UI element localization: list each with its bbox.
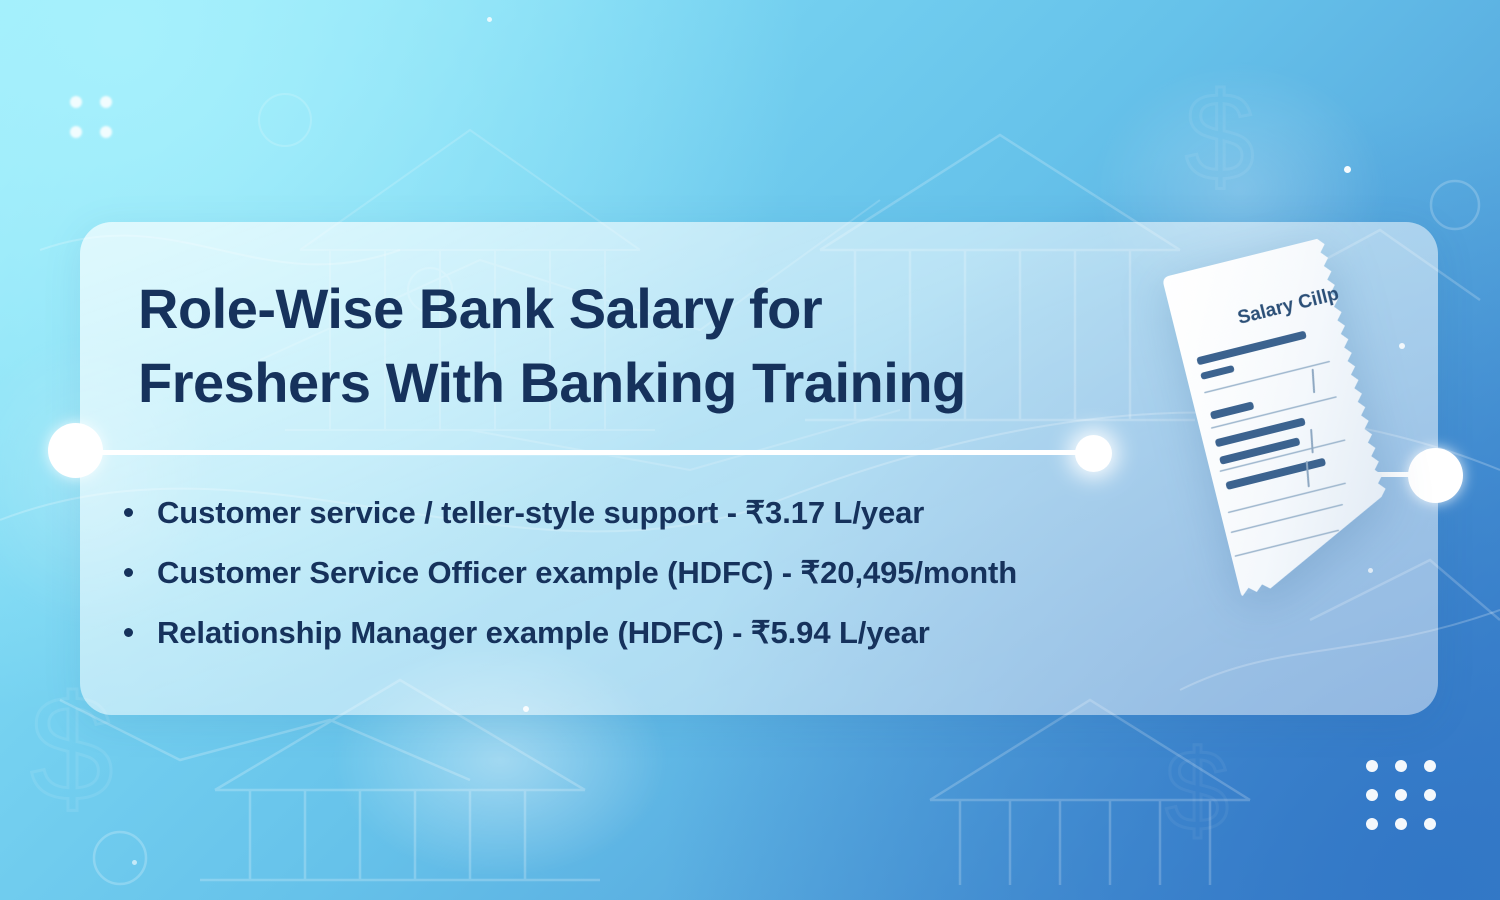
bullet-list: Customer service / teller-style support … (120, 495, 1210, 651)
svg-text:$: $ (1165, 727, 1229, 855)
decor-dot (70, 126, 82, 138)
node-left (48, 423, 103, 478)
list-item-label: Relationship Manager example (HDFC) - ₹5… (157, 615, 930, 650)
page-title: Role-Wise Bank Salary for Freshers With … (138, 272, 1168, 421)
decor-dot (1424, 789, 1436, 801)
sparkle-dot (132, 860, 137, 865)
bullet-dot-icon (124, 628, 133, 637)
decor-dot (1366, 789, 1378, 801)
node-mid (1075, 435, 1112, 472)
svg-text:$: $ (1185, 68, 1255, 207)
decor-dot (100, 96, 112, 108)
decor-dot (1424, 818, 1436, 830)
list-item-label: Customer Service Officer example (HDFC) … (157, 555, 1017, 590)
sparkle-dot (487, 17, 492, 22)
decor-dot (1395, 789, 1407, 801)
list-item: Customer Service Officer example (HDFC) … (120, 555, 1210, 591)
decor-dot (70, 96, 82, 108)
dot-grid-bottom-right (1366, 760, 1436, 830)
list-item: Relationship Manager example (HDFC) - ₹5… (120, 615, 1210, 651)
decor-dot (1366, 760, 1378, 772)
decor-dot (1395, 760, 1407, 772)
list-item-label: Customer service / teller-style support … (157, 495, 924, 530)
infographic-canvas: $ $ $ (0, 0, 1500, 900)
list-item: Customer service / teller-style support … (120, 495, 1210, 531)
decor-dot (1366, 818, 1378, 830)
node-right (1408, 448, 1463, 503)
divider-rule (88, 450, 1098, 455)
sparkle-dot (1344, 166, 1351, 173)
decor-dot (100, 126, 112, 138)
decor-dot (1424, 760, 1436, 772)
dot-grid-top-left (70, 96, 112, 138)
bullet-dot-icon (124, 568, 133, 577)
decor-dot (1395, 818, 1407, 830)
bullet-dot-icon (124, 508, 133, 517)
